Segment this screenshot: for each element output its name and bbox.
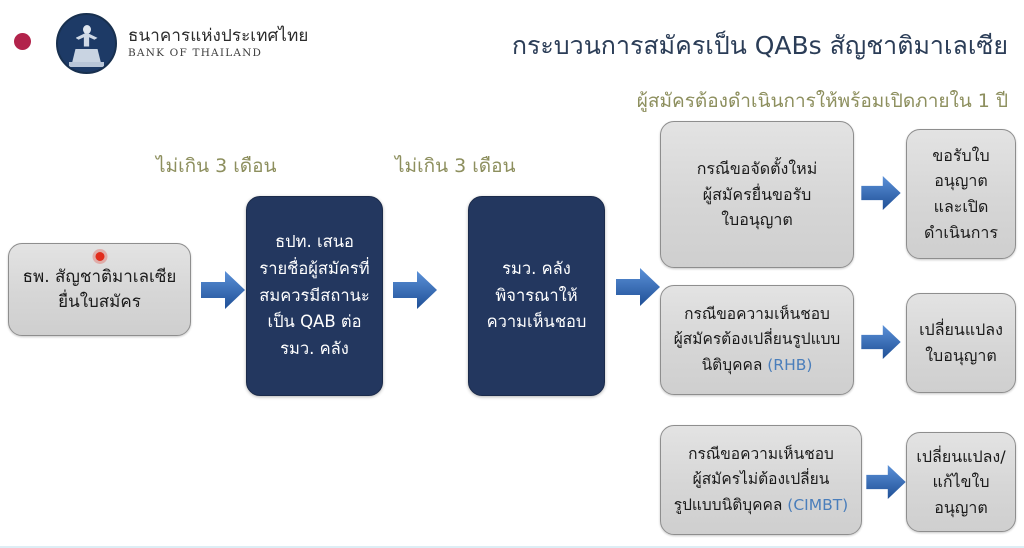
- branch-condition-tag-3: (CIMBT): [787, 496, 848, 514]
- step-box-2-label: รมว. คลัง พิจารณาให้ ความเห็นชอบ: [469, 256, 604, 336]
- step-box-2[interactable]: รมว. คลัง พิจารณาให้ ความเห็นชอบ: [468, 196, 605, 396]
- branch-condition-box-1[interactable]: กรณีขอจัดตั้งใหม่ ผู้สมัครยื่นขอรับ ใบอน…: [660, 121, 854, 268]
- right-arrow-icon: [616, 268, 660, 306]
- branch-outcome-label-3: เปลี่ยนแปลง/ แก้ไขใบอนุญาต: [907, 444, 1015, 521]
- branch-condition-label-1: กรณีขอจัดตั้งใหม่ ผู้สมัครยื่นขอรับ ใบอน…: [661, 156, 853, 233]
- page-title: กระบวนการสมัครเป็น QABs สัญชาติมาเลเซีย: [512, 26, 1008, 66]
- right-arrow-icon: [861, 325, 901, 359]
- bank-of-thailand-logo: ธนาคารแห่งประเทศไทย BANK OF THAILAND: [56, 13, 308, 74]
- start-box-label: ธพ. สัญชาติมาเลเซีย ยื่นใบสมัคร: [9, 265, 190, 314]
- step-box-1-label: ธปท. เสนอ รายชื่อผู้สมัครที่ สมควรมีสถาน…: [247, 229, 382, 363]
- branch-condition-box-3[interactable]: กรณีขอความเห็นชอบ ผู้สมัครไม่ต้องเปลี่ยน…: [660, 425, 862, 535]
- timing-label-1: ไม่เกิน 3 เดือน: [156, 151, 276, 181]
- right-arrow-icon: [861, 176, 901, 210]
- branch-condition-box-2[interactable]: กรณีขอความเห็นชอบ ผู้สมัครต้องเปลี่ยนรูป…: [660, 285, 854, 395]
- branch-outcome-label-1: ขอรับใบอนุญาต และเปิด ดำเนินการ: [907, 143, 1015, 245]
- brand-name-english: BANK OF THAILAND: [128, 48, 308, 60]
- red-dot-icon: [14, 33, 31, 50]
- step-box-1[interactable]: ธปท. เสนอ รายชื่อผู้สมัครที่ สมควรมีสถาน…: [246, 196, 383, 396]
- branch-outcome-box-3[interactable]: เปลี่ยนแปลง/ แก้ไขใบอนุญาต: [906, 432, 1016, 532]
- subtitle-note: ผู้สมัครต้องดำเนินการให้พร้อมเปิดภายใน 1…: [637, 86, 1008, 116]
- right-arrow-icon: [866, 465, 906, 499]
- slide-canvas: ธนาคารแห่งประเทศไทย BANK OF THAILAND กระ…: [0, 0, 1024, 548]
- start-box[interactable]: ธพ. สัญชาติมาเลเซีย ยื่นใบสมัคร: [8, 243, 191, 336]
- branch-outcome-label-2: เปลี่ยนแปลง ใบอนุญาต: [907, 317, 1015, 368]
- red-dot-marker-icon: [95, 252, 104, 261]
- branch-condition-label-2: กรณีขอความเห็นชอบ ผู้สมัครต้องเปลี่ยนรูป…: [674, 305, 841, 373]
- right-arrow-icon: [201, 271, 245, 309]
- timing-label-2: ไม่เกิน 3 เดือน: [395, 151, 515, 181]
- branch-outcome-box-2[interactable]: เปลี่ยนแปลง ใบอนุญาต: [906, 293, 1016, 393]
- right-arrow-icon: [393, 271, 437, 309]
- brand-name-thai: ธนาคารแห่งประเทศไทย: [128, 27, 308, 46]
- branch-condition-tag-2: (RHB): [767, 356, 812, 374]
- bank-of-thailand-seal-icon: [56, 13, 117, 74]
- branch-outcome-box-1[interactable]: ขอรับใบอนุญาต และเปิด ดำเนินการ: [906, 129, 1016, 259]
